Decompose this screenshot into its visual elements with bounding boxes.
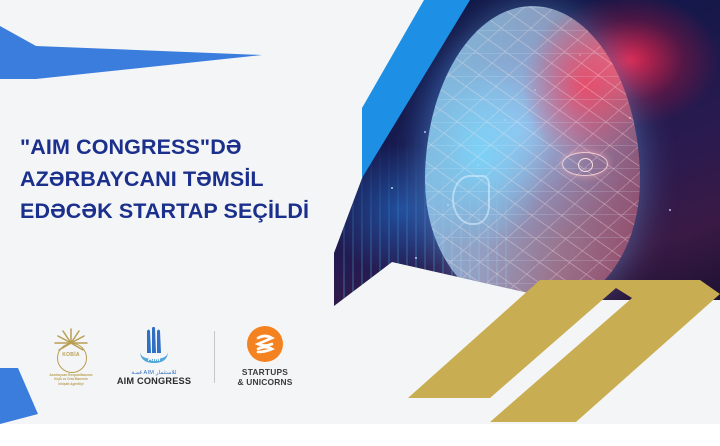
eye-outline: [562, 152, 608, 176]
logo-divider: [214, 331, 215, 383]
ear-outline: [452, 175, 490, 225]
headline-text: "AIM CONGRESS"DƏ AZƏRBAYCANI TƏMSİL EDƏC…: [20, 131, 370, 227]
swirl-glyph-icon: [247, 326, 283, 362]
news-banner: "AIM CONGRESS"DƏ AZƏRBAYCANI TƏMSİL EDƏC…: [0, 0, 720, 446]
logo-kobia[interactable]: KOBİA Azərbaycan Respublikasının Kiçik v…: [34, 327, 108, 387]
svg-text:AIM: AIM: [148, 356, 161, 363]
aim-wordmark: AIM CONGRESS: [117, 376, 191, 386]
kobia-circle-outline: [57, 343, 87, 373]
aim-towers-icon: AIM: [134, 327, 174, 369]
logo-strip: KOBİA Azərbaycan Respublikasının Kiçik v…: [34, 326, 301, 387]
kobia-subtitle: Azərbaycan Respublikasının Kiçik və Orta…: [40, 373, 102, 387]
startups-wordmark: STARTUPS & UNICORNS: [237, 367, 292, 387]
kobia-flower-icon: KOBİA: [50, 327, 92, 371]
bottom-white-band: [0, 424, 720, 446]
startups-circle-icon: [247, 326, 283, 362]
logo-startups-unicorns[interactable]: STARTUPS & UNICORNS: [229, 326, 301, 387]
logo-aim-congress[interactable]: AIM قمـة AIM للاستثمار AIM CONGRESS: [108, 327, 200, 386]
kobia-wordmark: KOBİA: [50, 352, 92, 358]
